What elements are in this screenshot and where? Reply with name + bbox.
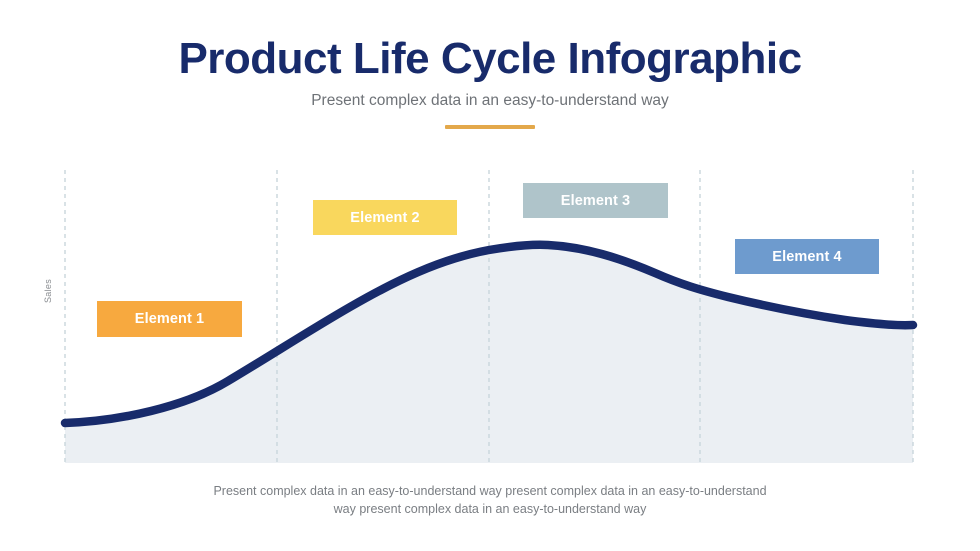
element-label-4[interactable]: Element 4 <box>735 239 879 274</box>
chart-area: Sales Element 1 Element 2 Element 3 Elem… <box>0 0 980 551</box>
footer-caption: Present complex data in an easy-to-under… <box>210 482 770 518</box>
product-life-cycle-curve-chart <box>0 0 980 551</box>
element-label-3[interactable]: Element 3 <box>523 183 668 218</box>
element-label-1[interactable]: Element 1 <box>97 301 242 337</box>
infographic-slide: Product Life Cycle Infographic Present c… <box>0 0 980 551</box>
element-label-4-text: Element 4 <box>772 249 841 265</box>
element-label-2-text: Element 2 <box>350 210 419 226</box>
y-axis-label: Sales <box>43 271 53 311</box>
element-label-2[interactable]: Element 2 <box>313 200 457 235</box>
element-label-3-text: Element 3 <box>561 193 630 209</box>
element-label-1-text: Element 1 <box>135 311 204 327</box>
